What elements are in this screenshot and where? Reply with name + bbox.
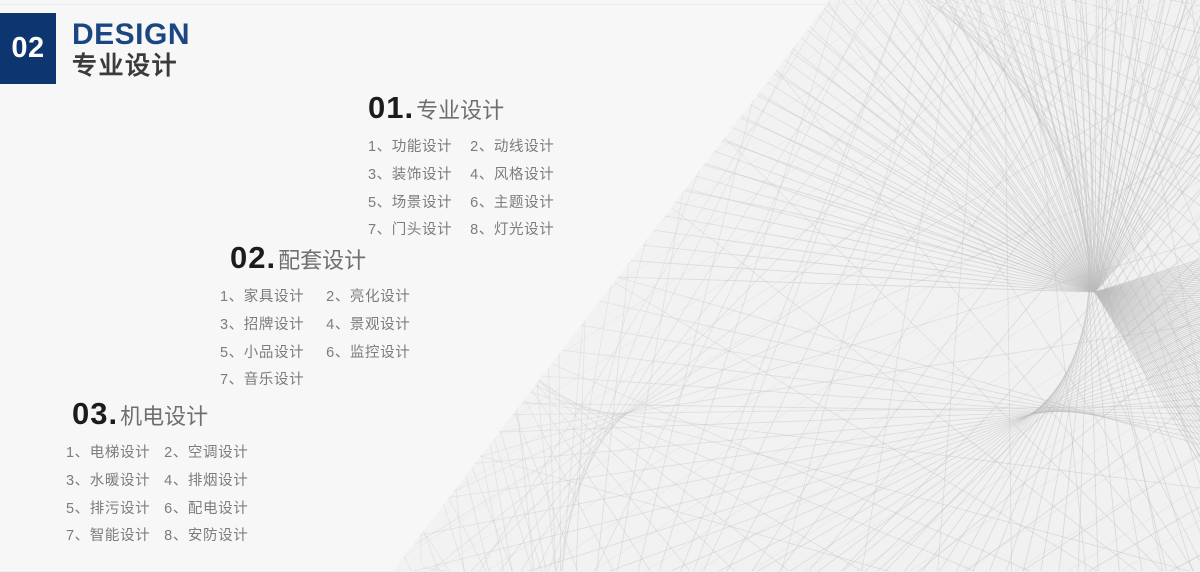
- section-02-item-list: 1、家具设计 2、亮化设计 3、招牌设计 4、景观设计 5、小品设计 6、监控设…: [220, 287, 410, 392]
- slide-header: 02 DESIGN 专业设计: [0, 13, 190, 84]
- list-item: 8、灯光设计: [470, 220, 554, 242]
- section-03-heading: 03. 机电设计: [72, 398, 248, 429]
- section-01-heading: 01. 专业设计: [368, 92, 554, 123]
- list-item: 2、亮化设计: [326, 287, 410, 309]
- list-item: 6、配电设计: [164, 499, 248, 521]
- section-01-name: 专业设计: [416, 100, 504, 122]
- section-block-03: 03. 机电设计 1、电梯设计 2、空调设计 3、水暖设计 4、排烟设计 5、排…: [72, 398, 248, 548]
- list-item: 7、门头设计: [368, 220, 452, 242]
- list-item: 3、招牌设计: [220, 315, 304, 337]
- list-item: 6、主题设计: [470, 193, 554, 215]
- list-item: 4、景观设计: [326, 315, 410, 337]
- section-03-name: 机电设计: [120, 406, 208, 428]
- list-item: 1、功能设计: [368, 137, 452, 159]
- list-item: 5、小品设计: [220, 343, 304, 365]
- slide-title-group: DESIGN 专业设计: [72, 13, 190, 84]
- section-block-02: 02. 配套设计 1、家具设计 2、亮化设计 3、招牌设计 4、景观设计 5、小…: [230, 242, 410, 392]
- list-item: 4、风格设计: [470, 165, 554, 187]
- slide-canvas: 02 DESIGN 专业设计 01. 专业设计 1、功能设计 2、动线设计 3、…: [0, 0, 1200, 572]
- list-item: 7、智能设计: [66, 526, 150, 548]
- list-item: 1、电梯设计: [66, 443, 150, 465]
- section-03-number: 03.: [72, 398, 118, 429]
- section-03-item-list: 1、电梯设计 2、空调设计 3、水暖设计 4、排烟设计 5、排污设计 6、配电设…: [66, 443, 248, 548]
- top-divider: [0, 4, 1200, 5]
- section-01-number: 01.: [368, 92, 414, 123]
- list-item: 4、排烟设计: [164, 471, 248, 493]
- list-item: 8、安防设计: [164, 526, 248, 548]
- section-02-name: 配套设计: [278, 250, 366, 272]
- list-item: 3、装饰设计: [368, 165, 452, 187]
- section-01-item-list: 1、功能设计 2、动线设计 3、装饰设计 4、风格设计 5、场景设计 6、主题设…: [368, 137, 554, 242]
- list-item: 2、动线设计: [470, 137, 554, 159]
- list-item: 3、水暖设计: [66, 471, 150, 493]
- badge-number-label: 02: [11, 34, 44, 63]
- section-number-badge: 02: [0, 13, 56, 84]
- list-item: 7、音乐设计: [220, 370, 304, 392]
- section-block-01: 01. 专业设计 1、功能设计 2、动线设计 3、装饰设计 4、风格设计 5、场…: [368, 92, 554, 242]
- list-item: 5、场景设计: [368, 193, 452, 215]
- list-item: 5、排污设计: [66, 499, 150, 521]
- title-chinese: 专业设计: [72, 52, 190, 80]
- section-02-heading: 02. 配套设计: [230, 242, 410, 273]
- section-02-number: 02.: [230, 242, 276, 273]
- title-english: DESIGN: [72, 19, 190, 50]
- list-item: 1、家具设计: [220, 287, 304, 309]
- list-item: 2、空调设计: [164, 443, 248, 465]
- list-item: 6、监控设计: [326, 343, 410, 365]
